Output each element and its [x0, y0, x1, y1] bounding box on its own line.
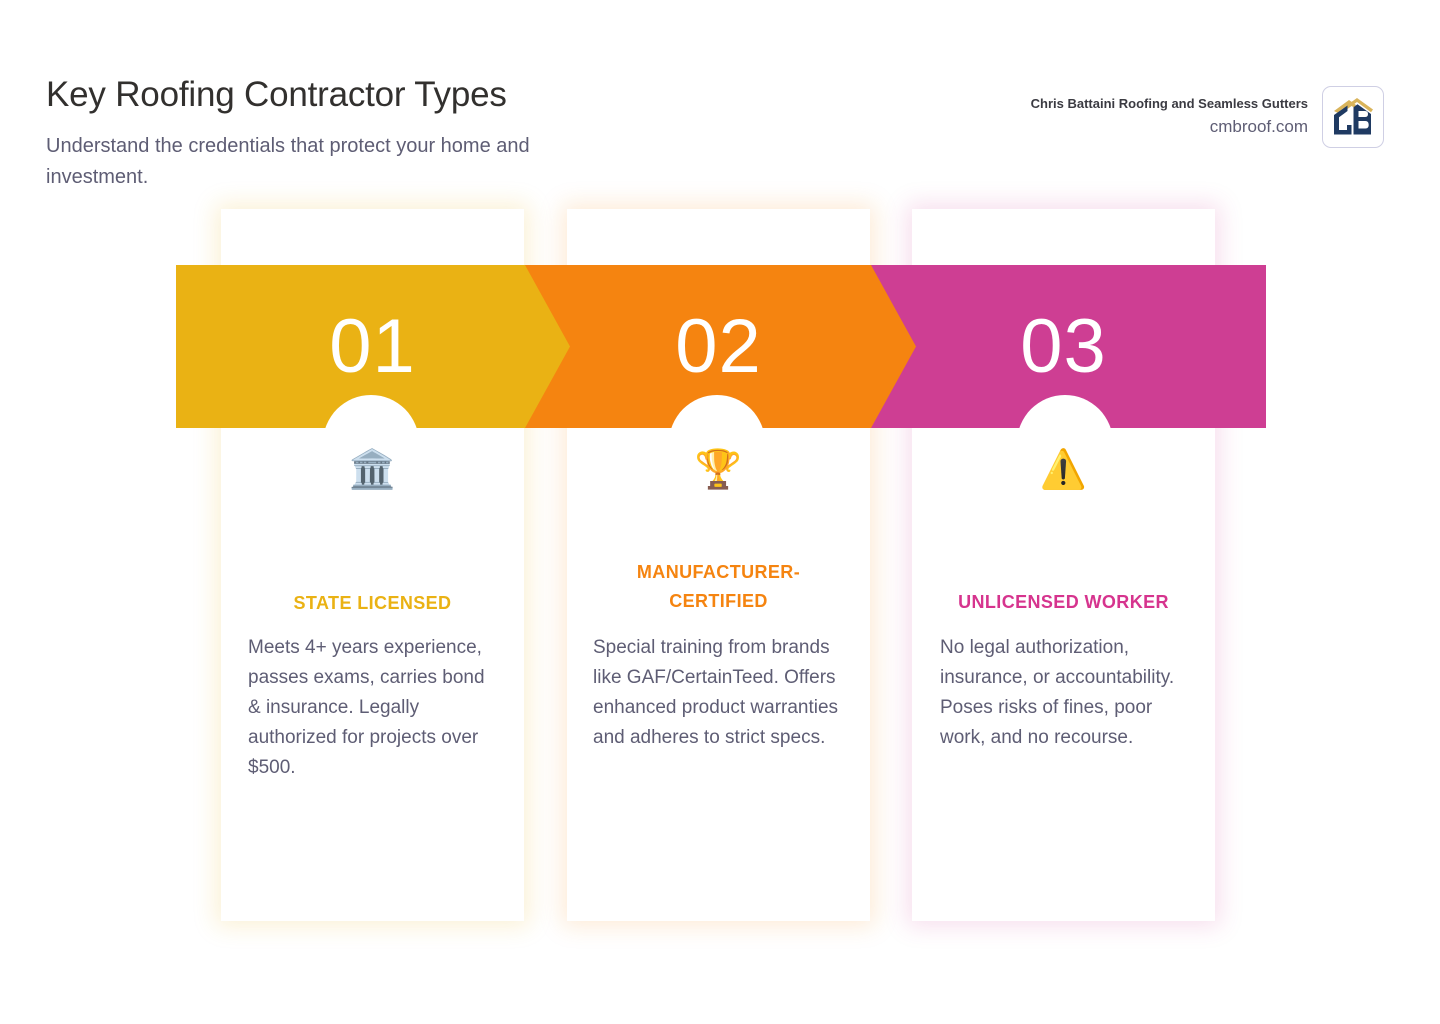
step-number-3: 03 — [912, 265, 1215, 428]
step-heading-2: MANUFACTURER-CERTIFIED — [591, 558, 846, 616]
step-number-2: 02 — [567, 265, 870, 428]
brand-url: cmbroof.com — [1031, 114, 1308, 140]
step-heading-3: UNLICENSED WORKER — [936, 588, 1191, 617]
brand-block: Chris Battaini Roofing and Seamless Gutt… — [1031, 86, 1384, 148]
step-body-1: Meets 4+ years experience, passes exams,… — [248, 633, 500, 783]
page-title: Key Roofing Contractor Types — [46, 75, 507, 115]
page-subtitle: Understand the credentials that protect … — [46, 131, 616, 193]
warning-triangle-icon: ⚠️ — [912, 448, 1215, 492]
house-cb-monogram-logo-icon — [1322, 86, 1384, 148]
step-heading-1: STATE LICENSED — [245, 589, 500, 618]
classical-building-icon: 🏛️ — [221, 448, 524, 492]
infographic-page: Key Roofing Contractor Types Understand … — [0, 0, 1440, 1024]
brand-text: Chris Battaini Roofing and Seamless Gutt… — [1031, 94, 1308, 140]
step-body-3: No legal authorization, insurance, or ac… — [940, 633, 1192, 753]
brand-name: Chris Battaini Roofing and Seamless Gutt… — [1031, 94, 1308, 114]
trophy-icon: 🏆 — [567, 448, 870, 492]
step-body-2: Special training from brands like GAF/Ce… — [593, 633, 845, 753]
step-number-1: 01 — [221, 265, 524, 428]
